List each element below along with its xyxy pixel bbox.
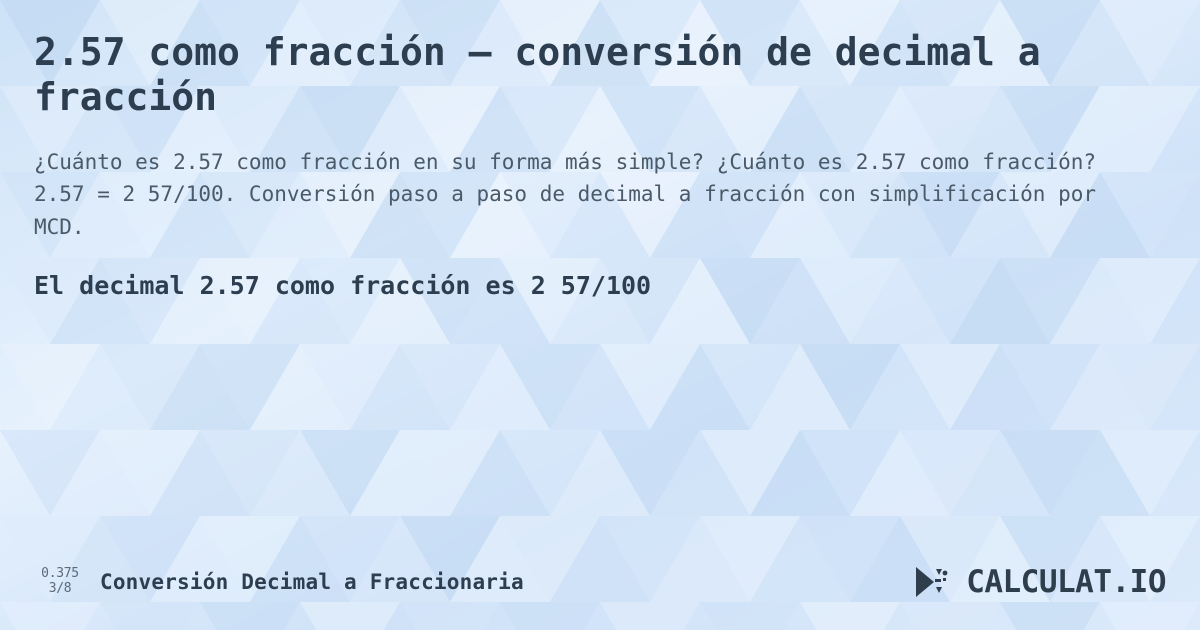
fraction-badge-decimal: 0.375 — [41, 567, 79, 582]
page-description: ¿Cuánto es 2.57 como fracción en su form… — [34, 146, 1144, 244]
calculator-logo-icon — [912, 565, 958, 599]
brand-name: CALCULAT.IO — [966, 564, 1166, 600]
brand-logo[interactable]: CALCULAT.IO — [912, 564, 1166, 600]
footer-label: Conversión Decimal a Fraccionaria — [100, 570, 524, 594]
main-content: 2.57 como fracción – conversión de decim… — [0, 0, 1200, 300]
footer-left-group: 0.375 3/8 Conversión Decimal a Fracciona… — [34, 567, 524, 597]
fraction-badge-fraction: 3/8 — [49, 582, 72, 597]
answer-statement: El decimal 2.57 como fracción es 2 57/10… — [34, 271, 1166, 300]
page-root: 2.57 como fracción – conversión de decim… — [0, 0, 1200, 630]
page-title: 2.57 como fracción – conversión de decim… — [34, 30, 1074, 120]
fraction-example-badge: 0.375 3/8 — [34, 567, 86, 597]
footer-bar: 0.375 3/8 Conversión Decimal a Fracciona… — [0, 560, 1200, 604]
